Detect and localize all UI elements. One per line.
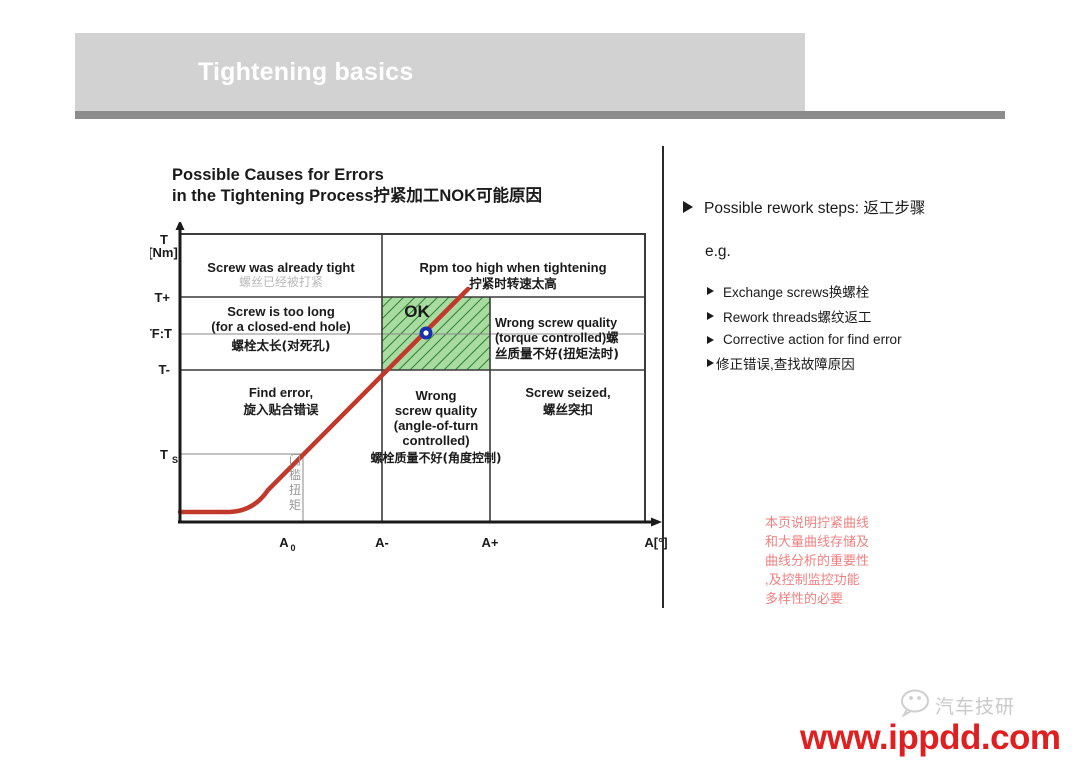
cell-bot-center-en3: (angle-of-turn [394, 418, 479, 433]
cell-mid-right-en2: (torque controlled)螺 [495, 330, 619, 345]
header-band [75, 33, 805, 111]
x-tick-a-minus: A- [375, 535, 389, 550]
cell-top-left-zh: 螺丝已经被打紧 [239, 275, 323, 289]
svg-text:门: 门 [289, 452, 301, 467]
x-axis-unit: A[°] [644, 535, 667, 550]
page-title: Tightening basics [198, 58, 413, 87]
cell-top-right-zh: 拧紧时转速太高 [469, 276, 557, 291]
y-tick-tf-t: TF:T [150, 326, 172, 341]
list-item-label: Exchange screws换螺栓 [723, 285, 869, 300]
cell-top-left-en: Screw was already tight [207, 260, 355, 275]
triangle-bullet-icon [683, 201, 693, 213]
cell-top-right-en: Rpm too high when tightening [419, 260, 606, 275]
red-annotation-note: 本页说明拧紧曲线 和大量曲线存储及 曲线分析的重要性 ,及控制监控功能 多样性的… [765, 513, 869, 608]
chart-title: Possible Causes for Errors in the Tighte… [172, 165, 542, 207]
cell-mid-right-zh: 丝质量不好(扭矩法时) [495, 346, 619, 361]
panel-divider [662, 146, 664, 608]
svg-text:矩: 矩 [289, 498, 301, 512]
svg-text:S: S [172, 455, 178, 465]
cell-bot-left-en: Find error, [249, 385, 313, 400]
svg-text:扭: 扭 [289, 483, 301, 497]
cell-mid-right-en1: Wrong screw quality [495, 316, 617, 330]
cell-bot-left-zh: 旋入贴合错误 [242, 402, 319, 417]
red-note-line: ,及控制监控功能 [765, 570, 869, 589]
cell-bot-center-zh: 螺栓质量不好(角度控制) [371, 450, 502, 465]
list-item-label: Rework threads螺纹返工 [723, 310, 872, 325]
x-tick-a0: A [279, 535, 289, 550]
eg-label: e.g. [705, 243, 731, 261]
red-note-line: 和大量曲线存储及 [765, 532, 869, 551]
cell-bot-right-zh: 螺丝突扣 [543, 402, 593, 417]
watermark-url: www.ippdd.com [800, 718, 1061, 758]
rework-steps-label: Possible rework steps: 返工步骤 [704, 200, 925, 217]
watermark-brand: 汽车技研 [935, 692, 1015, 719]
tightening-diagram: T [Nm] T+ TF:T T- T S A 0 A- A+ A[°] Scr… [150, 222, 670, 552]
y-tick-ts: T [160, 447, 168, 462]
cell-bot-center-en4: controlled) [402, 433, 469, 448]
triangle-bullet-icon [707, 336, 714, 344]
x-tick-a-plus: A+ [482, 535, 499, 550]
header-divider-rule [75, 111, 1005, 119]
triangle-bullet-icon [707, 359, 714, 367]
red-note-line: 本页说明拧紧曲线 [765, 513, 869, 532]
y-axis-unit-line2: [Nm] [150, 245, 178, 260]
list-item: Rework threads螺纹返工 [707, 306, 1007, 326]
list-item-label: 修正错误,查找故障原因 [716, 357, 855, 372]
chart-title-line1: Possible Causes for Errors [172, 165, 542, 186]
chart-title-line2: in the Tightening Process拧紧加工NOK可能原因 [172, 186, 542, 207]
red-note-line: 多样性的必要 [765, 589, 869, 608]
cell-mid-left-zh: 螺栓太长(对死孔) [232, 338, 331, 353]
cell-bot-right-en: Screw seized, [525, 385, 610, 400]
list-item-label: Corrective action for find error [723, 332, 902, 347]
cell-mid-left-en1: Screw is too long [227, 304, 335, 319]
list-item: Exchange screws换螺栓 [707, 281, 1007, 301]
red-note-line: 曲线分析的重要性 [765, 551, 869, 570]
y-tick-t-plus: T+ [154, 290, 170, 305]
cell-bot-center-en2: screw quality [395, 403, 478, 418]
y-tick-t-minus: T- [158, 362, 170, 377]
cell-ok-label: OK [404, 302, 430, 321]
cell-mid-left-en2: (for a closed-end hole) [211, 319, 350, 334]
svg-text:0: 0 [290, 543, 295, 552]
list-item: 修正错误,查找故障原因 [707, 353, 1007, 373]
rework-steps-list: Exchange screws换螺栓 Rework threads螺纹返工 Co… [707, 281, 1007, 378]
cell-bot-center-en1: Wrong [416, 388, 457, 403]
triangle-bullet-icon [707, 312, 714, 320]
list-item: Corrective action for find error [707, 331, 1007, 349]
rework-steps-row: Possible rework steps: 返工步骤 [683, 196, 1003, 218]
svg-text:槛: 槛 [289, 467, 301, 482]
triangle-bullet-icon [707, 287, 714, 295]
